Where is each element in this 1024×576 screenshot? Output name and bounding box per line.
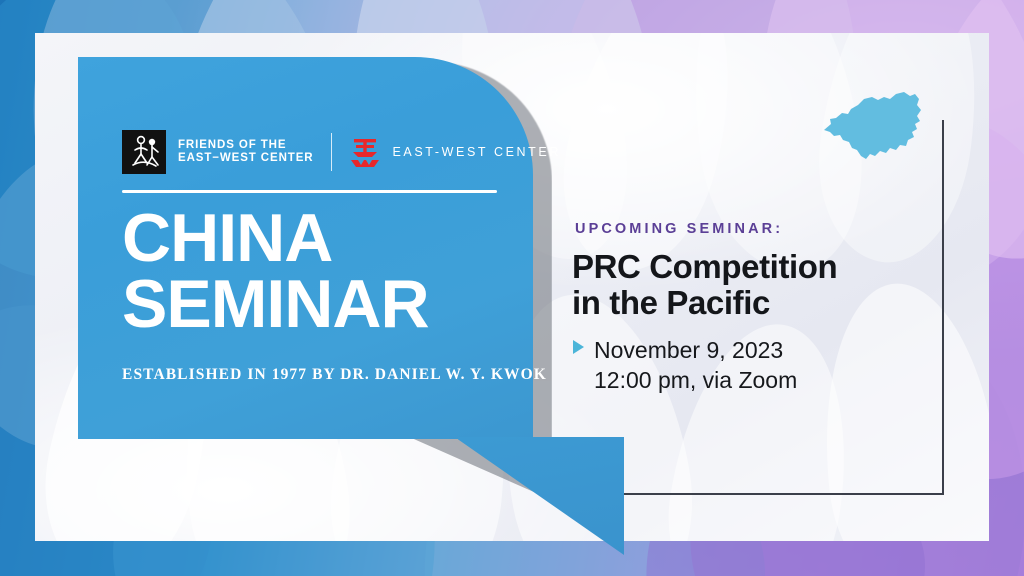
poster-canvas: FRIENDS OF THE EAST−WEST CENTER EAST-WES… <box>0 0 1024 576</box>
friends-logo-label: FRIENDS OF THE EAST−WEST CENTER <box>178 139 313 166</box>
bracket-vertical-line <box>942 120 944 495</box>
logo-row: FRIENDS OF THE EAST−WEST CENTER EAST-WES… <box>122 129 561 175</box>
upcoming-seminar-kicker: UPCOMING SEMINAR: <box>575 221 783 237</box>
east-west-center-label: EAST-WEST CENTER <box>392 145 560 159</box>
event-details: November 9, 2023 12:00 pm, via Zoom <box>594 335 924 395</box>
triangle-right-icon <box>573 340 584 354</box>
headline-line1: PRC Competition <box>572 249 912 285</box>
event-headline: PRC Competition in the Pacific <box>572 249 912 321</box>
established-line: ESTABLISHED IN 1977 BY DR. DANIEL W. Y. … <box>122 366 522 384</box>
friends-label-line2: EAST−WEST CENTER <box>178 152 313 166</box>
friends-of-east-west-center-mark <box>122 130 166 174</box>
friends-label-line1: FRIENDS OF THE <box>178 139 313 153</box>
event-date: November 9, 2023 <box>594 335 924 365</box>
logo-divider <box>331 133 332 171</box>
title-line-seminar: SEMINAR <box>122 271 522 337</box>
headline-line2: in the Pacific <box>572 285 912 321</box>
china-map-icon <box>818 88 926 174</box>
page-title: CHINA SEMINAR <box>122 205 522 337</box>
event-time: 12:00 pm, via Zoom <box>594 365 924 395</box>
logo-rule <box>122 190 497 193</box>
title-line-china: CHINA <box>122 205 522 271</box>
east-west-center-mark <box>350 136 380 168</box>
